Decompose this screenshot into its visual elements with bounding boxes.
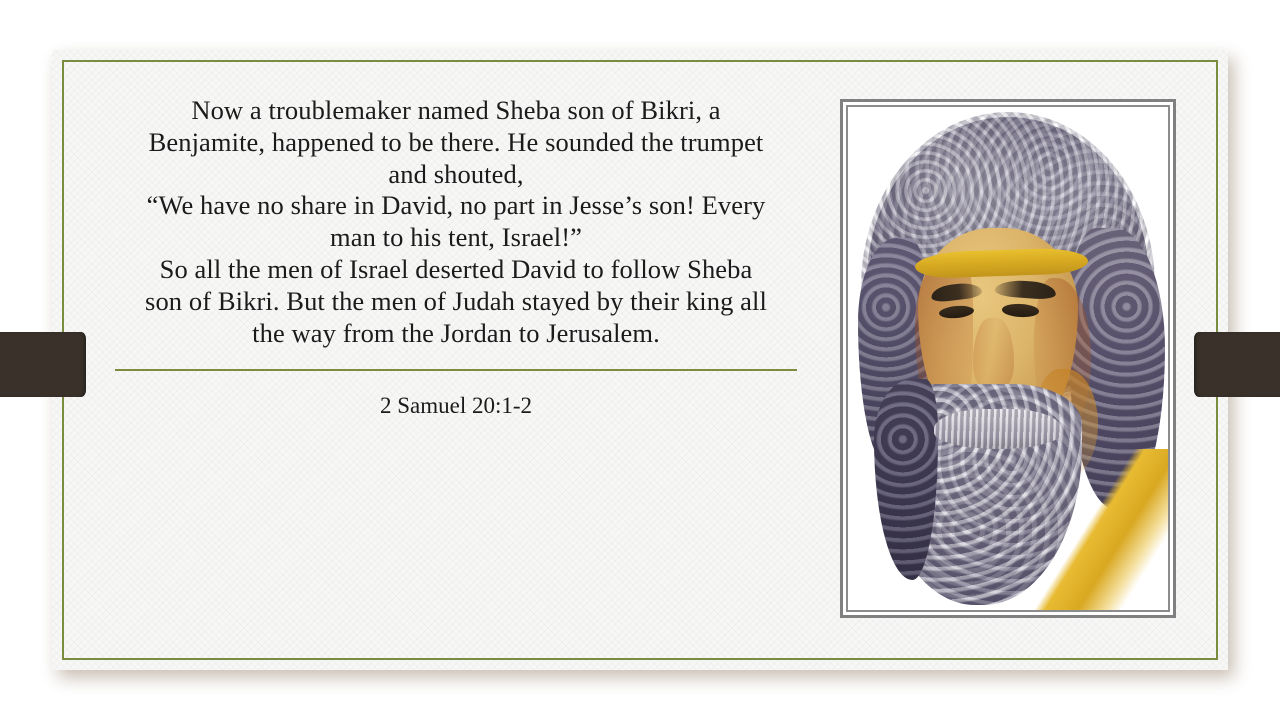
verse-text-block: Now a troublemaker named Sheba son of Bi… <box>115 95 797 349</box>
portrait-frame-inner <box>846 105 1170 612</box>
portrait-frame <box>840 99 1176 618</box>
verse-line: son of Bikri. But the men of Judah staye… <box>115 286 797 318</box>
ribbon-strap-right <box>1194 332 1280 397</box>
verse-line: and shouted, <box>115 159 797 191</box>
slide-card: Now a troublemaker named Sheba son of Bi… <box>52 50 1228 670</box>
portrait-beard-shadow <box>874 379 938 580</box>
verse-line: the way from the Jordan to Jerusalem. <box>115 318 797 350</box>
portrait-nose <box>973 318 1015 393</box>
verse-line: So all the men of Israel deserted David … <box>115 254 797 286</box>
ribbon-strap-left <box>0 332 86 397</box>
slide-stage: Now a troublemaker named Sheba son of Bi… <box>0 0 1280 720</box>
portrait-image <box>848 107 1168 610</box>
verse-paragraph: Now a troublemaker named Sheba son of Bi… <box>115 95 797 349</box>
portrait-robe <box>1014 449 1168 610</box>
section-divider <box>115 369 797 371</box>
scripture-citation: 2 Samuel 20:1-2 <box>115 392 797 420</box>
verse-line: man to his tent, Israel!” <box>115 222 797 254</box>
verse-line: “We have no share in David, no part in J… <box>115 190 797 222</box>
portrait-moustache <box>934 409 1062 449</box>
verse-line: Benjamite, happened to be there. He soun… <box>115 127 797 159</box>
verse-line: Now a troublemaker named Sheba son of Bi… <box>115 95 797 127</box>
